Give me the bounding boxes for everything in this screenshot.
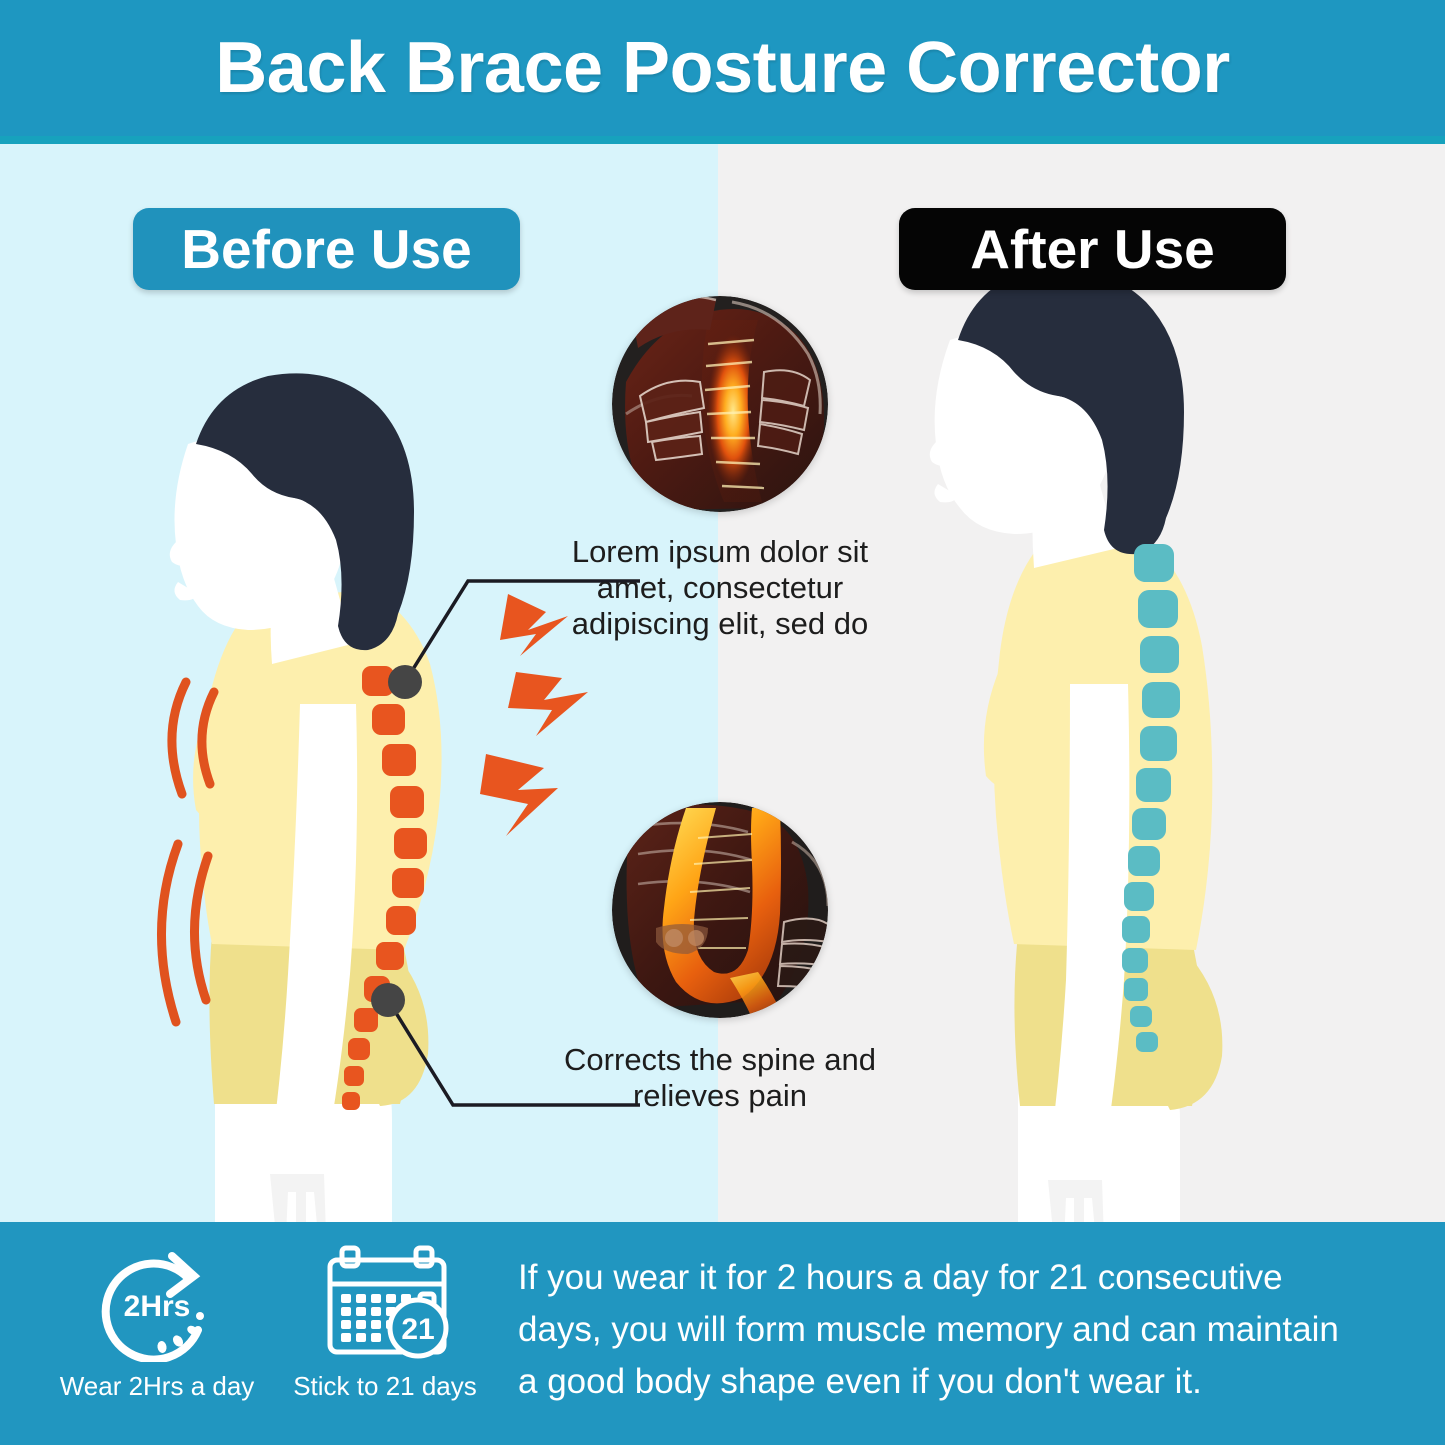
footer-label-hours: Wear 2Hrs a day <box>48 1371 266 1402</box>
badge-before-use: Before Use <box>133 208 520 290</box>
footer-item-stick-days: 21 Stick to 21 days <box>272 1244 498 1402</box>
clock-icon-text: 2Hrs <box>124 1290 191 1323</box>
footer-label-days: Stick to 21 days <box>272 1371 498 1402</box>
callout-dot-neck <box>388 665 422 699</box>
footer-text-line: If you wear it for 2 hours a day for 21 … <box>518 1252 1418 1304</box>
comparison-stage: Before Use After Use <box>0 144 1445 1222</box>
cervical-spine-pain-photo <box>612 296 828 512</box>
calendar-21-icon: 21 <box>272 1244 498 1362</box>
caption-lower-back: Corrects the spine and relieves pain <box>555 1042 885 1114</box>
pain-wave-lower <box>161 844 208 1022</box>
badge-after-use: After Use <box>899 208 1286 290</box>
header-divider <box>0 136 1445 144</box>
footer-item-wear-hours: 2Hrs Wear 2Hrs a day <box>48 1244 266 1402</box>
caption-line: relieves pain <box>555 1078 885 1114</box>
lumbar-spine-pain-photo <box>612 802 828 1018</box>
caption-neck-pain: Lorem ipsum dolor sit amet, consectetur … <box>555 534 885 642</box>
calendar-icon-text: 21 <box>401 1313 434 1346</box>
callout-dot-back <box>371 983 405 1017</box>
clock-2hrs-icon: 2Hrs <box>48 1244 266 1362</box>
footer-bar: 2Hrs Wear 2Hrs a day <box>0 1222 1445 1445</box>
caption-line: Corrects the spine and <box>555 1042 885 1078</box>
infographic-page: Back Brace Posture Corrector <box>0 0 1445 1445</box>
caption-line: amet, consectetur <box>555 570 885 606</box>
caption-line: Lorem ipsum dolor sit <box>555 534 885 570</box>
after-body <box>930 267 1223 1222</box>
footer-description: If you wear it for 2 hours a day for 21 … <box>518 1252 1418 1408</box>
footer-text-line: a good body shape even if you don't wear… <box>518 1356 1418 1408</box>
page-title: Back Brace Posture Corrector <box>0 0 1445 136</box>
footer-text-line: days, you will form muscle memory and ca… <box>518 1304 1418 1356</box>
caption-line: adipiscing elit, sed do <box>555 606 885 642</box>
